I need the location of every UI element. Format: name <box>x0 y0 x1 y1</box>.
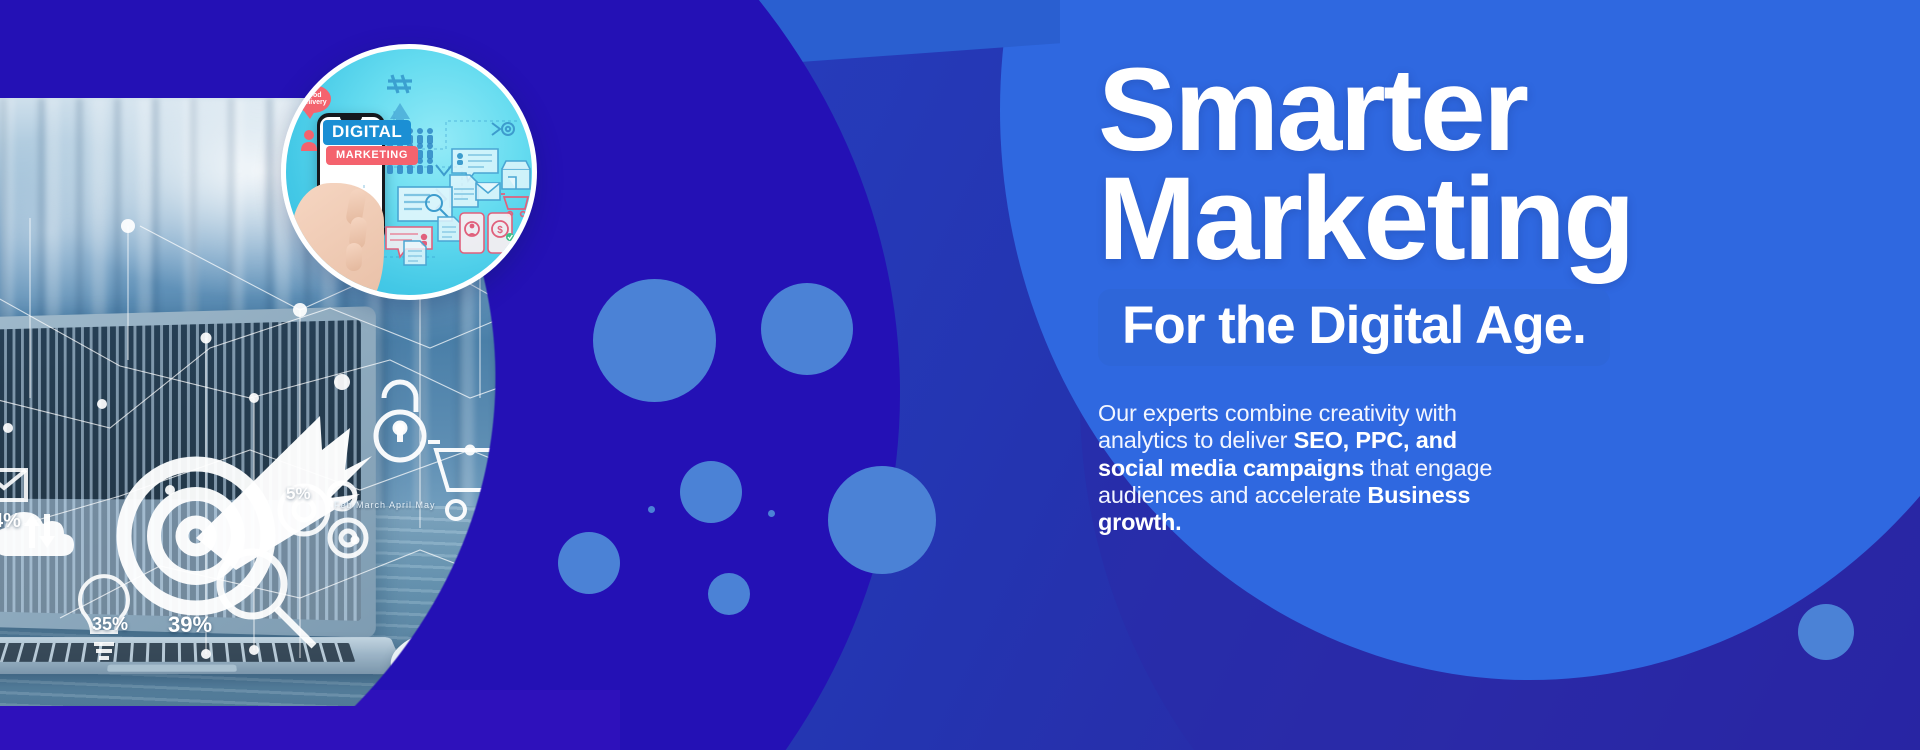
digital-tag: DIGITAL <box>323 120 411 145</box>
food-delivery-line-1: Food <box>304 92 321 99</box>
hud-stat-label-1: 35% <box>92 614 128 635</box>
digital-marketing-circle-image: $ Food Delivery <box>281 44 537 300</box>
svg-text:$: $ <box>497 225 503 236</box>
hand-holding-phone <box>292 183 384 300</box>
decorative-circle-6 <box>648 506 655 513</box>
decorative-circle-5 <box>708 573 750 615</box>
decorative-circle-2 <box>680 461 742 523</box>
food-delivery-bubble: Food Delivery <box>295 85 331 113</box>
marketing-hero-banner: 4% 35% 5% 39% 39% 76 Feb March April May <box>0 0 1920 750</box>
marketing-tag: MARKETING <box>326 146 418 165</box>
decorative-circle-8 <box>1798 604 1854 660</box>
decorative-circle-7 <box>768 510 775 517</box>
finger-3 <box>346 243 363 272</box>
hud-stat-label-5: 76 <box>518 510 537 530</box>
hud-stat-label-2: 39% <box>168 612 212 638</box>
hud-stat-label-0: 4% <box>0 510 21 533</box>
headline-line-2: Marketing <box>1098 165 1798 274</box>
page-title: Smarter Marketing <box>1098 56 1798 273</box>
decorative-circle-1 <box>761 283 853 375</box>
tagline-badge: For the Digital Age. <box>1098 289 1610 366</box>
hero-description: Our experts combine creativity with anal… <box>1098 400 1510 536</box>
person-icon <box>300 129 318 151</box>
hud-stat-label-3: 5% <box>286 484 311 504</box>
hud-stat-label-4: 39% <box>570 510 596 533</box>
food-delivery-line-2: Delivery <box>299 99 326 106</box>
decorative-circle-0 <box>593 279 716 402</box>
hero-copy-block: Smarter Marketing For the Digital Age. O… <box>1098 56 1798 536</box>
decorative-circle-3 <box>828 466 936 574</box>
hud-month-axis-labels: Feb March April May <box>334 500 436 510</box>
